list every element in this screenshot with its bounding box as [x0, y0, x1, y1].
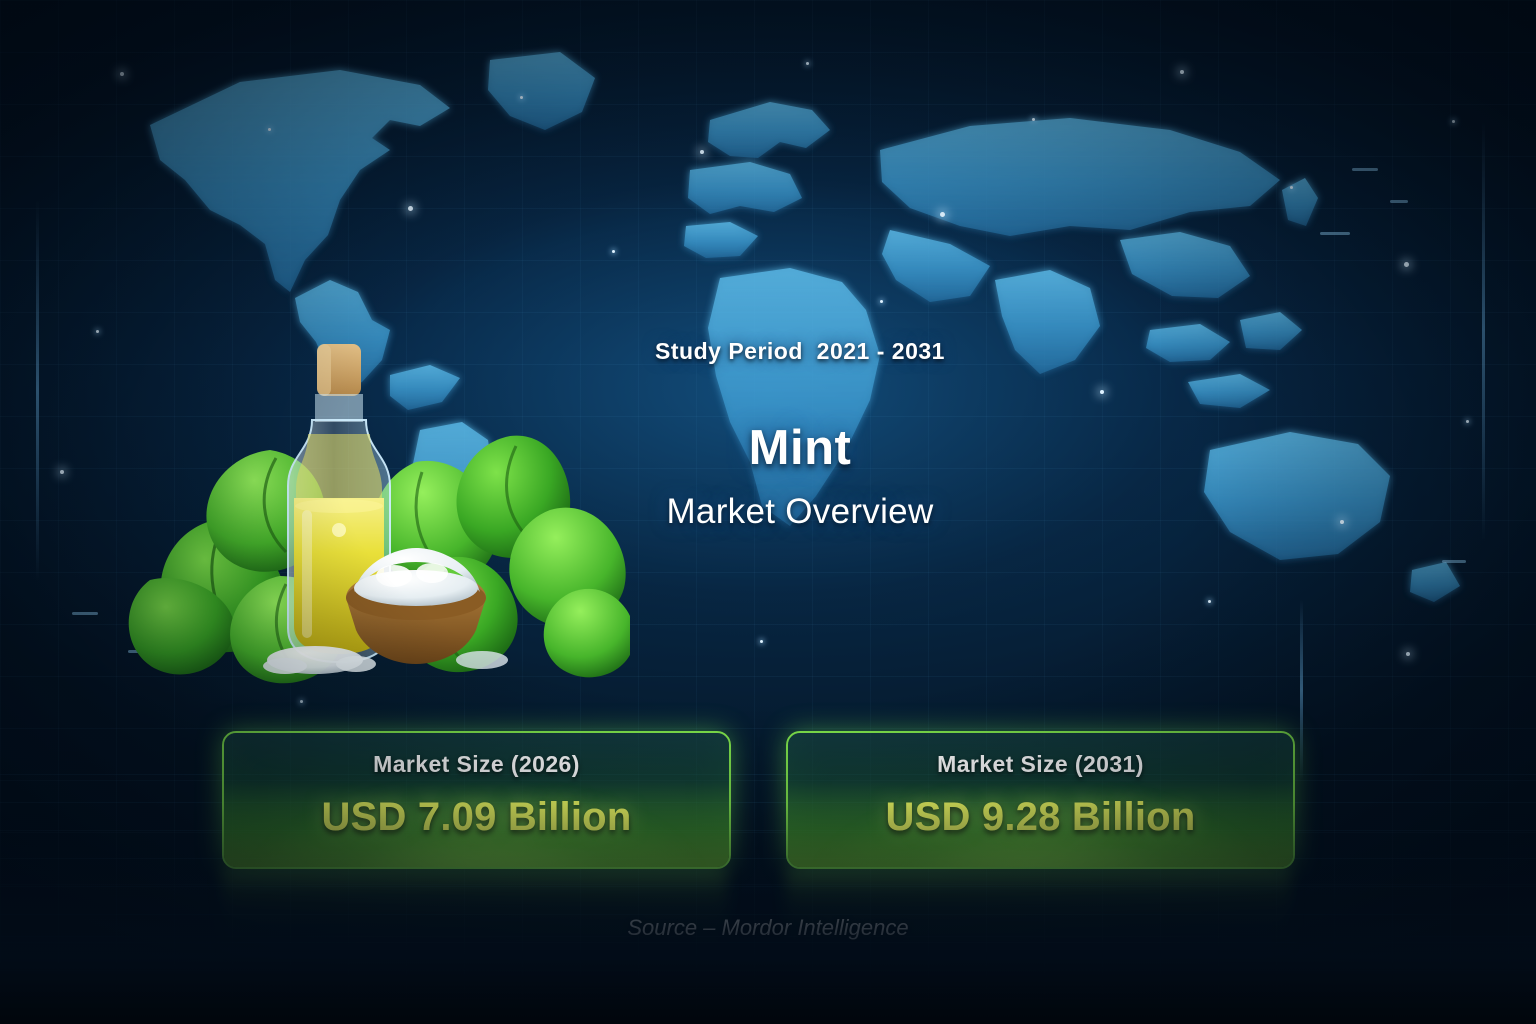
- infographic-canvas: Study Period 2021 - 2031 Mint Market Ove…: [0, 0, 1536, 1024]
- floor-fade: [0, 804, 1536, 1024]
